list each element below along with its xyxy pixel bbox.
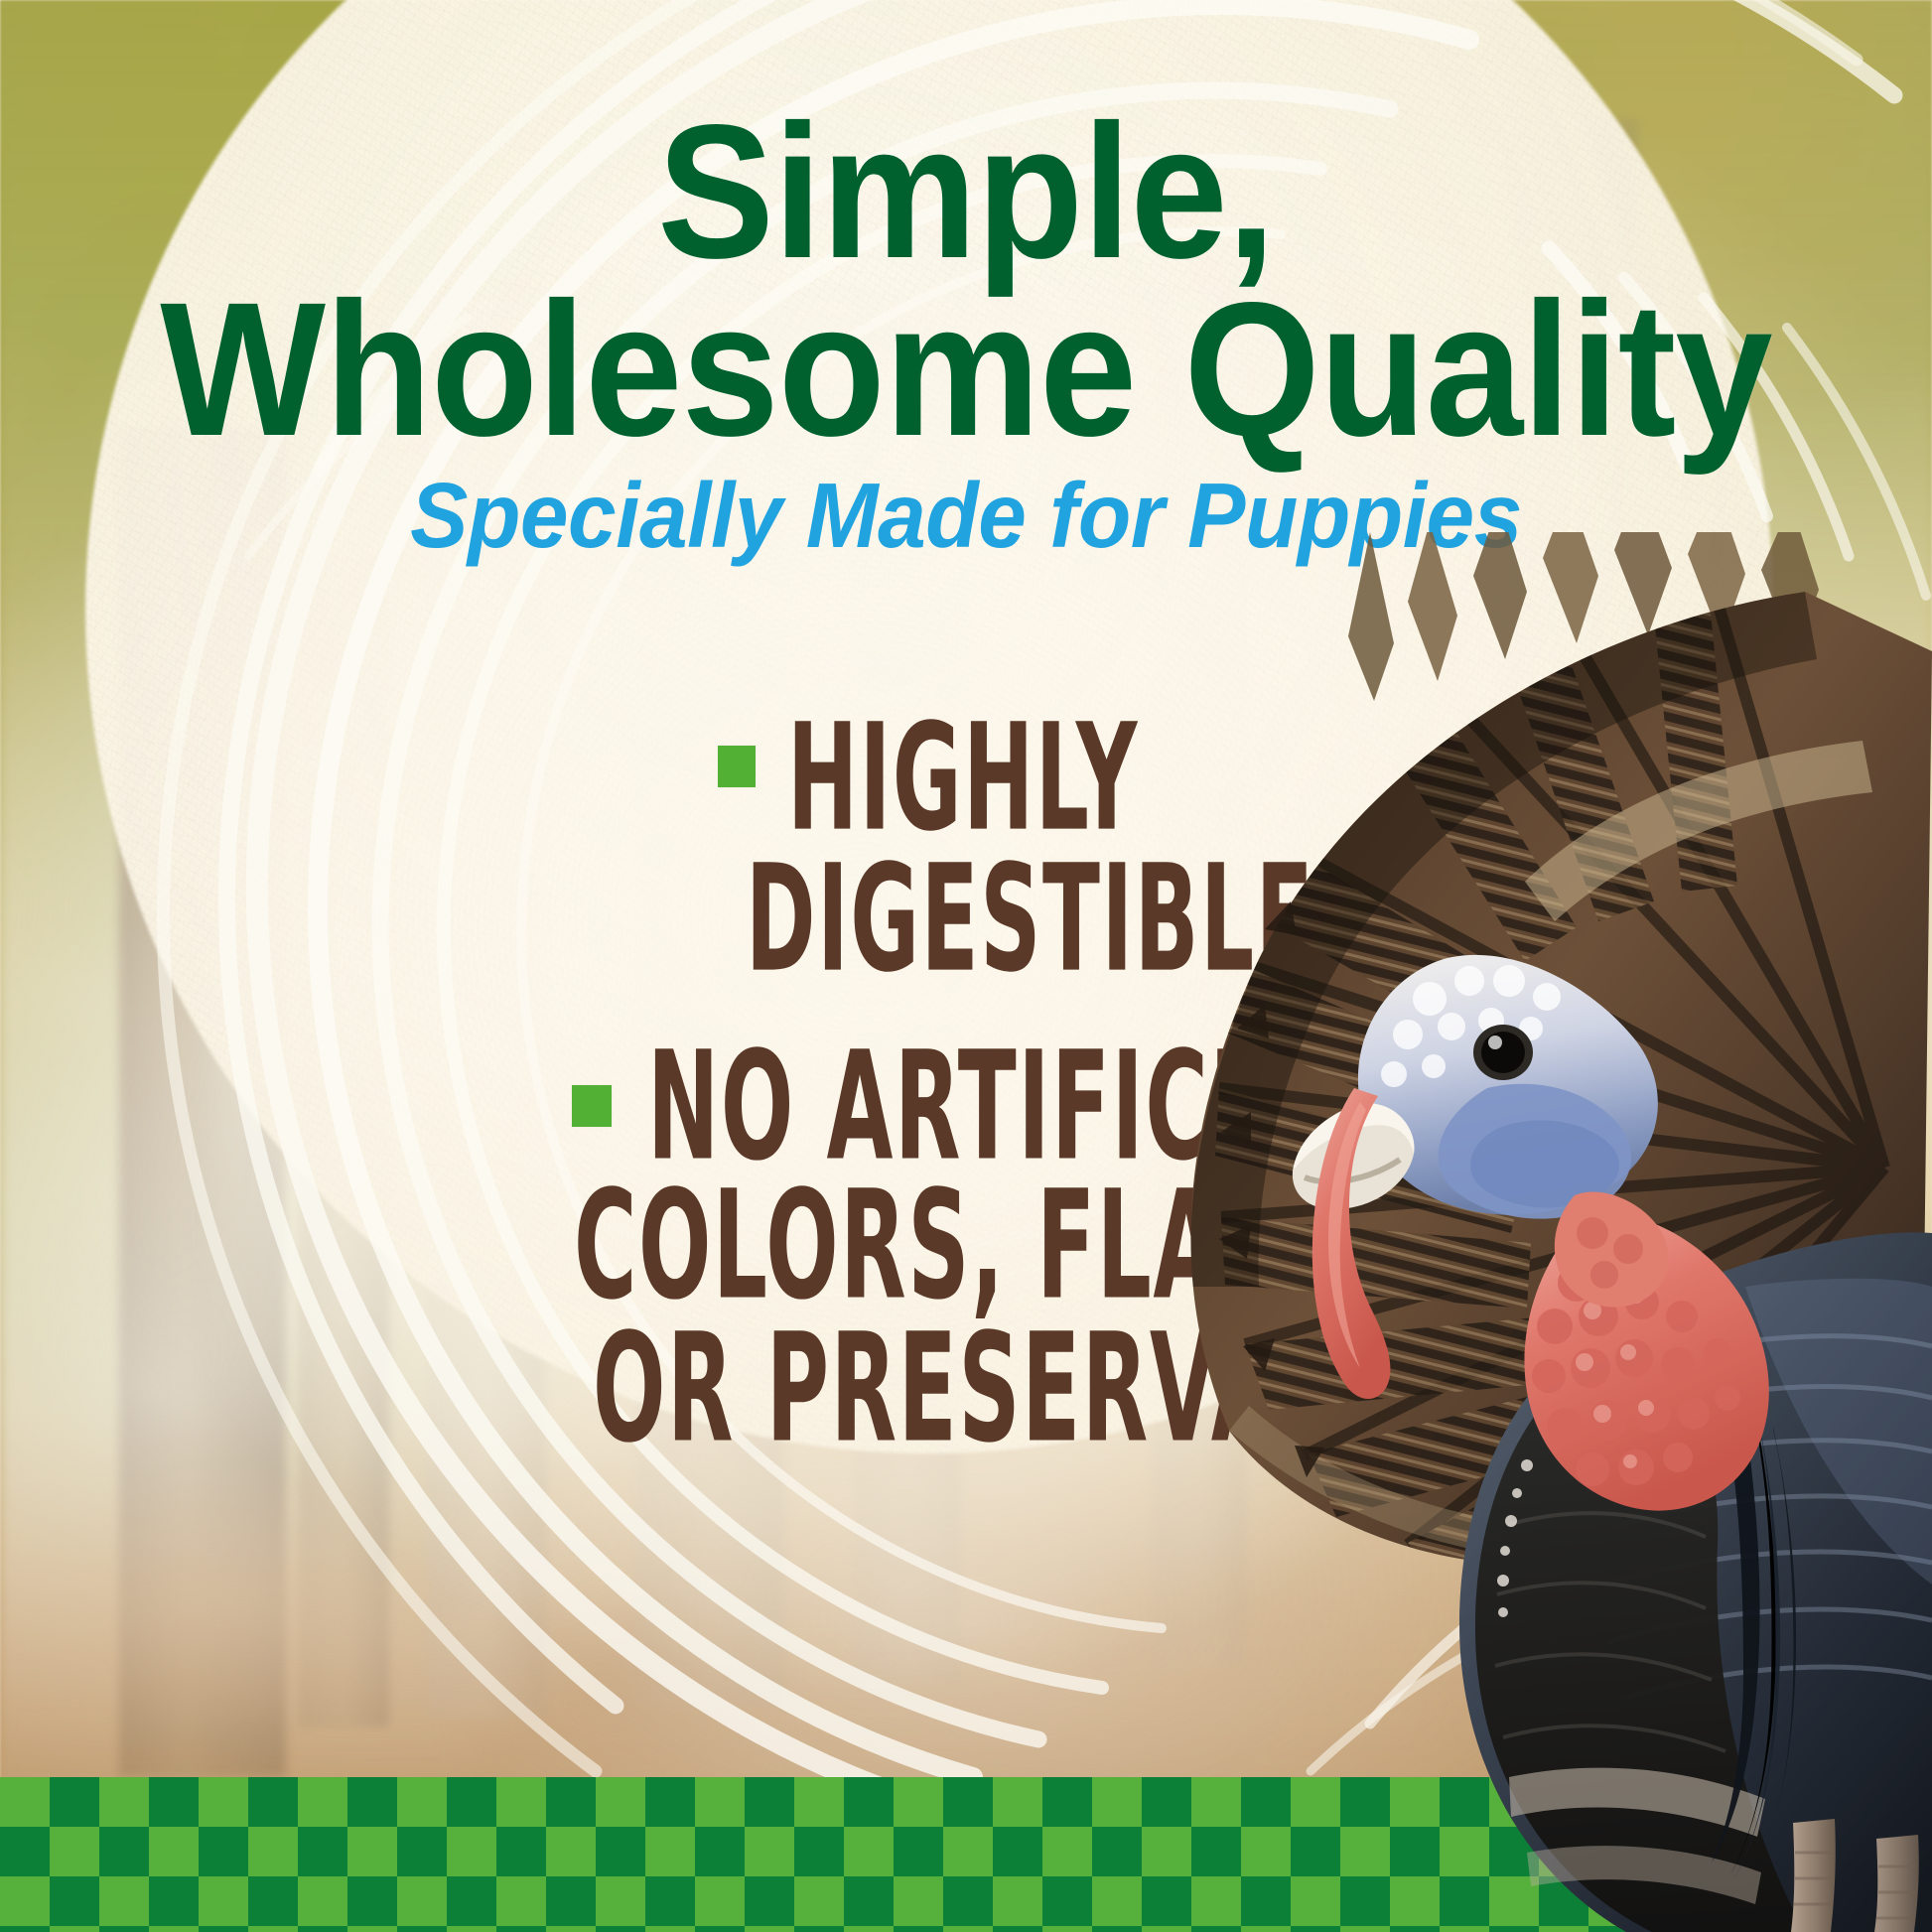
feature-list: HIGHLY DIGESTIBLE NO ARTIFICIAL COLORS, … bbox=[0, 0, 1291, 1932]
product-banner: Simple, Wholesome Quality Specially Made… bbox=[0, 0, 1932, 1932]
wild-turkey-illustration bbox=[1110, 532, 1932, 1932]
green-square-bullet-icon bbox=[718, 746, 756, 787]
green-square-bullet-icon bbox=[572, 1085, 612, 1127]
